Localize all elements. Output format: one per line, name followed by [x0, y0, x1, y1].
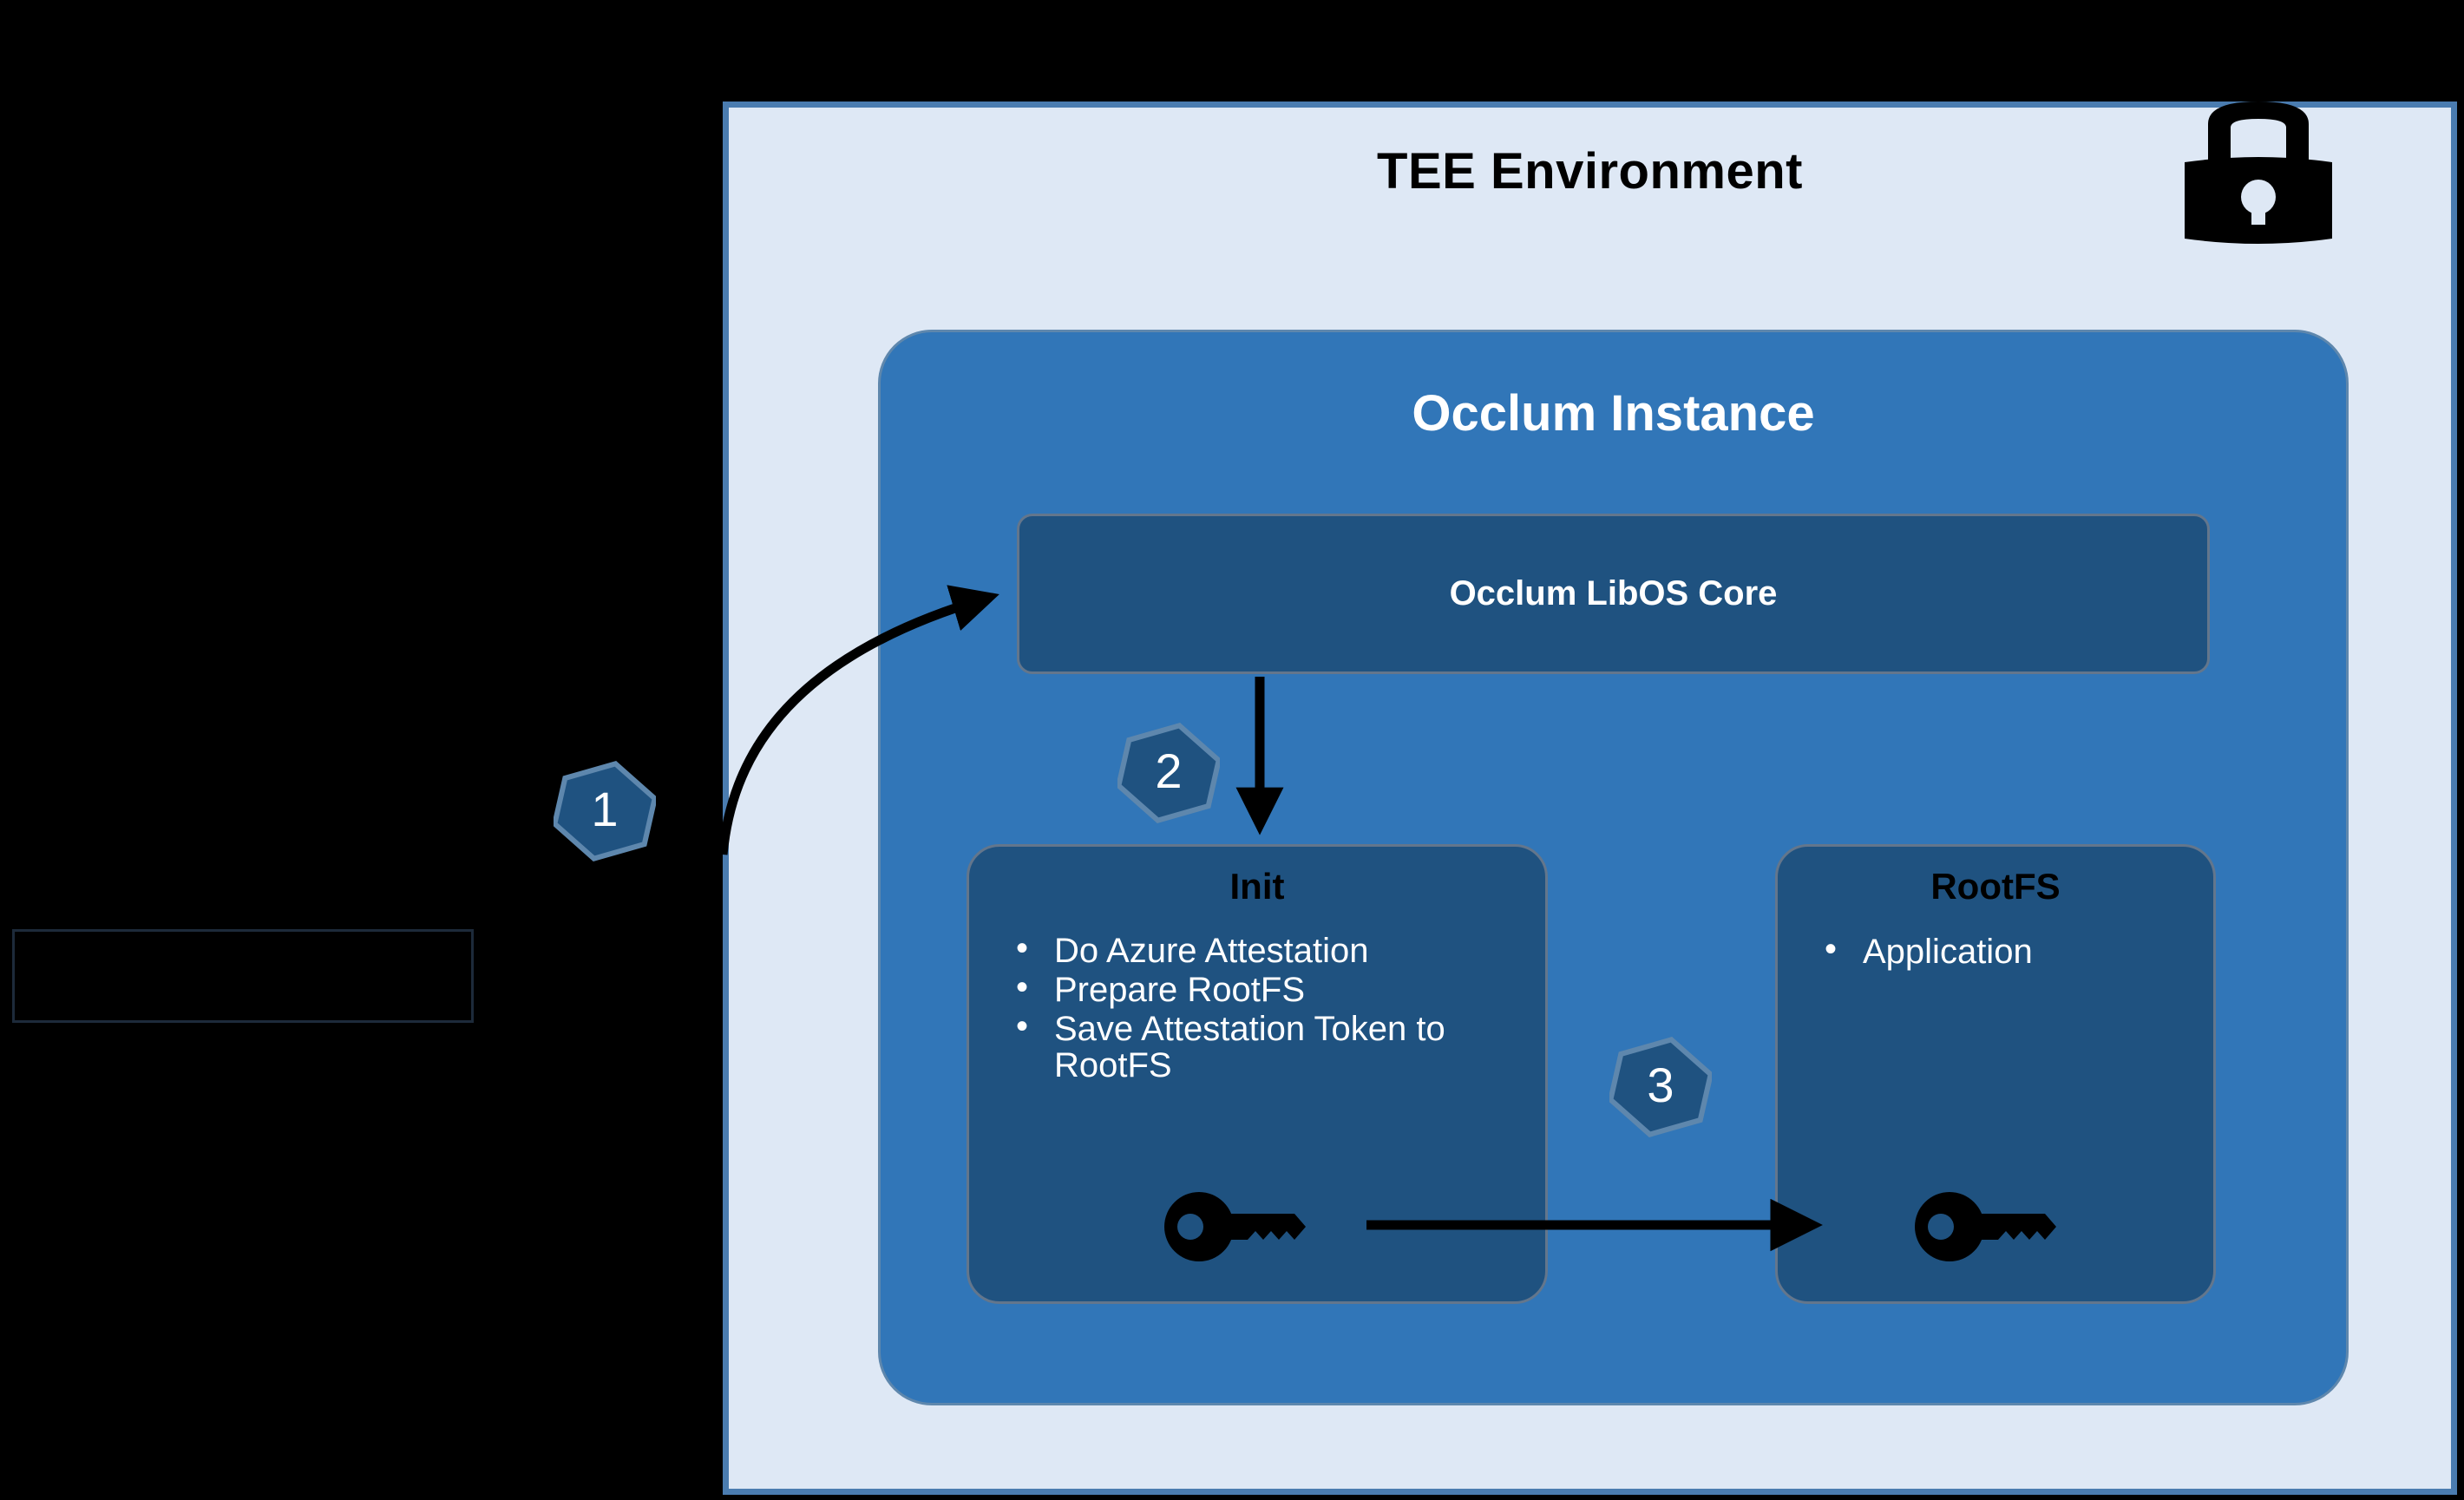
empty-outlined-box: [12, 929, 474, 1023]
occlum-instance-title: Occlum Instance: [881, 384, 2346, 442]
init-title: Init: [969, 866, 1545, 907]
rootfs-bullet-list: Application: [1809, 933, 2199, 970]
list-item: Prepare RootFS: [1000, 973, 1521, 1008]
occlum-libos-core-label: Occlum LibOS Core: [1450, 574, 1778, 613]
step-badge-number: 2: [1155, 747, 1182, 799]
step-badge-3: 3: [1609, 1036, 1712, 1138]
step-badge-1: 1: [554, 760, 656, 862]
diagram-canvas: TEE Environment Occlum Instance Occlum L…: [0, 0, 2464, 1500]
key-icon: [1163, 1190, 1314, 1264]
key-icon: [1913, 1190, 2065, 1264]
left-blacked-out-region: [0, 0, 723, 1500]
step-badge-number: 3: [1647, 1061, 1674, 1113]
rootfs-title: RootFS: [1778, 866, 2213, 907]
occlum-libos-core-box: Occlum LibOS Core: [1017, 514, 2210, 674]
step-badge-number: 1: [591, 785, 618, 837]
step-badge-2: 2: [1117, 722, 1220, 824]
list-item: Save Attestation Token to RootFS: [1000, 1012, 1521, 1083]
init-bullet-list: Do Azure Attestation Prepare RootFS Save…: [1000, 933, 1521, 1087]
list-item: Do Azure Attestation: [1000, 933, 1521, 969]
list-item: Application: [1809, 933, 2199, 970]
padlock-icon: [2166, 100, 2352, 247]
